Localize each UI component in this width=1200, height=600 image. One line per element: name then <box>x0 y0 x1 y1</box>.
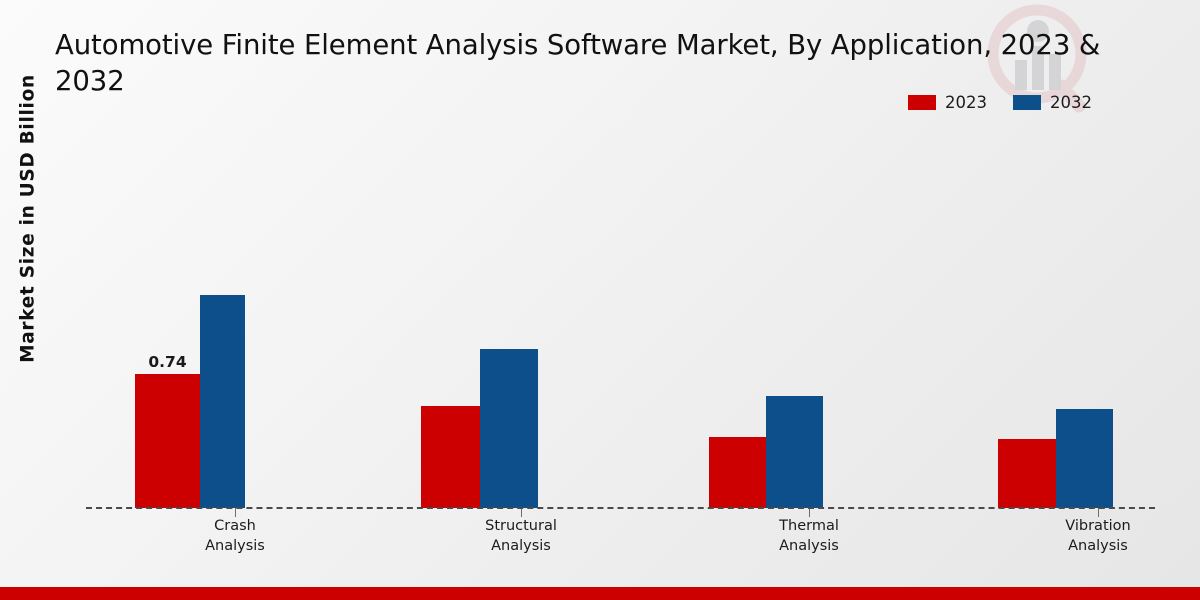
bars-crash-analysis: 0.74 <box>135 150 245 508</box>
plot-area: 0.74 Crash Analysis Structural Analysis <box>86 150 1155 508</box>
bar-2023-crash-analysis[interactable]: 0.74 <box>135 374 200 508</box>
bar-value-label-2023-crash-analysis: 0.74 <box>148 353 186 371</box>
legend-item-2023[interactable]: 2023 <box>908 93 987 112</box>
x-label-line-2: Analysis <box>421 536 621 556</box>
legend-swatch-2023 <box>908 95 936 110</box>
bar-2023-vibration-analysis[interactable] <box>998 439 1056 508</box>
y-axis-title: Market Size in USD Billion <box>18 39 39 399</box>
x-label-line-2: Analysis <box>998 536 1198 556</box>
bottom-accent-bar <box>0 587 1200 600</box>
x-label-line-2: Analysis <box>709 536 909 556</box>
x-label-crash-analysis: Crash Analysis <box>135 516 335 556</box>
bar-group-thermal-analysis: Thermal Analysis <box>709 150 909 508</box>
bar-group-vibration-analysis: Vibration Analysis <box>998 150 1198 508</box>
x-label-line-1: Vibration <box>998 516 1198 536</box>
x-label-structural-analysis: Structural Analysis <box>421 516 621 556</box>
bar-2032-thermal-analysis[interactable] <box>766 396 823 508</box>
x-label-thermal-analysis: Thermal Analysis <box>709 516 909 556</box>
x-axis-baseline <box>86 507 1155 509</box>
bar-2032-crash-analysis[interactable] <box>200 295 245 508</box>
legend-item-2032[interactable]: 2032 <box>1013 93 1092 112</box>
chart-title: Automotive Finite Element Analysis Softw… <box>55 28 1175 100</box>
legend-label-2023: 2023 <box>945 93 987 112</box>
x-label-line-1: Crash <box>135 516 335 536</box>
bar-2023-structural-analysis[interactable] <box>421 406 480 508</box>
bars-vibration-analysis <box>998 150 1113 508</box>
bar-group-crash-analysis: 0.74 Crash Analysis <box>135 150 335 508</box>
legend-label-2032: 2032 <box>1050 93 1092 112</box>
bars-structural-analysis <box>421 150 538 508</box>
x-label-line-2: Analysis <box>135 536 335 556</box>
legend-swatch-2032 <box>1013 95 1041 110</box>
bars-thermal-analysis <box>709 150 823 508</box>
chart-canvas: Automotive Finite Element Analysis Softw… <box>0 0 1200 600</box>
bar-2032-vibration-analysis[interactable] <box>1056 409 1113 508</box>
x-label-vibration-analysis: Vibration Analysis <box>998 516 1198 556</box>
x-label-line-1: Thermal <box>709 516 909 536</box>
x-label-line-1: Structural <box>421 516 621 536</box>
chart-legend: 2023 2032 <box>908 93 1092 112</box>
bar-2023-thermal-analysis[interactable] <box>709 437 766 508</box>
bar-group-structural-analysis: Structural Analysis <box>421 150 621 508</box>
bar-2032-structural-analysis[interactable] <box>480 349 538 508</box>
